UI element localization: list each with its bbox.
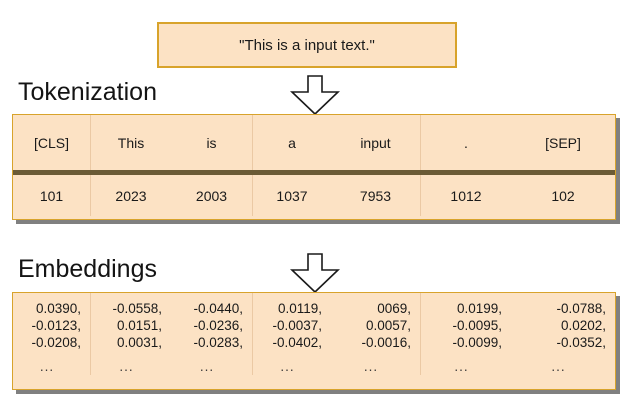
- token-cell: [CLS]: [13, 115, 91, 170]
- embedding-value: 0.0390,: [13, 300, 81, 317]
- embedding-column: 0069, 0.0057, -0.0016, ...: [331, 293, 421, 375]
- embedding-value: -0.0099,: [421, 334, 502, 351]
- embedding-column: 0.0390, -0.0123, -0.0208, ...: [13, 293, 91, 375]
- embedding-ellipsis: ...: [331, 351, 411, 375]
- embedding-value: -0.0402,: [253, 334, 322, 351]
- embedding-value: 0069,: [331, 300, 411, 317]
- embeddings-row: 0.0390, -0.0123, -0.0208, ... -0.0558, 0…: [13, 293, 615, 375]
- embedding-value: 0.0031,: [91, 334, 162, 351]
- embedding-column: -0.0558, 0.0151, 0.0031, ...: [91, 293, 171, 375]
- tokenization-table: [CLS] This is a input . [SEP] 101 2023 2…: [12, 114, 616, 220]
- token-cell: is: [171, 115, 253, 170]
- embeddings-table: 0.0390, -0.0123, -0.0208, ... -0.0558, 0…: [12, 292, 616, 390]
- embedding-value: 0.0202,: [511, 317, 606, 334]
- embedding-value: 0.0151,: [91, 317, 162, 334]
- embedding-value: -0.0788,: [511, 300, 606, 317]
- embedding-ellipsis: ...: [253, 351, 322, 375]
- token-cell: input: [331, 115, 421, 170]
- embedding-value: 0.0119,: [253, 300, 322, 317]
- input-text-box: "This is a input text.": [157, 22, 457, 68]
- embedding-column: 0.0199, -0.0095, -0.0099, ...: [421, 293, 511, 375]
- embedding-value: -0.0095,: [421, 317, 502, 334]
- embedding-column: 0.0119, -0.0037, -0.0402, ...: [253, 293, 331, 375]
- embedding-value: 0.0199,: [421, 300, 502, 317]
- embedding-value: -0.0283,: [171, 334, 243, 351]
- token-id-row: 101 2023 2003 1037 7953 1012 102: [13, 175, 615, 216]
- token-id-cell: 102: [511, 175, 615, 216]
- token-id-cell: 101: [13, 175, 91, 216]
- embedding-value: 0.0057,: [331, 317, 411, 334]
- embedding-value: -0.0352,: [511, 334, 606, 351]
- down-arrow-to-embeddings: [288, 252, 342, 294]
- token-id-cell: 7953: [331, 175, 421, 216]
- embedding-value: -0.0236,: [171, 317, 243, 334]
- token-id-cell: 1037: [253, 175, 331, 216]
- token-cell: a: [253, 115, 331, 170]
- token-id-cell: 2003: [171, 175, 253, 216]
- embedding-column: -0.0788, 0.0202, -0.0352, ...: [511, 293, 615, 375]
- down-arrow-to-tokenization: [288, 74, 342, 116]
- embedding-ellipsis: ...: [511, 351, 606, 375]
- embedding-value: -0.0208,: [13, 334, 81, 351]
- input-text-label: "This is a input text.": [239, 38, 375, 53]
- embedding-ellipsis: ...: [421, 351, 502, 375]
- section-heading-embeddings: Embeddings: [18, 257, 157, 282]
- embedding-value: -0.0558,: [91, 300, 162, 317]
- token-row: [CLS] This is a input . [SEP]: [13, 115, 615, 175]
- embedding-ellipsis: ...: [171, 351, 243, 375]
- token-cell: .: [421, 115, 511, 170]
- embedding-value: -0.0016,: [331, 334, 411, 351]
- embedding-value: -0.0440,: [171, 300, 243, 317]
- token-cell: [SEP]: [511, 115, 615, 170]
- embedding-value: -0.0123,: [13, 317, 81, 334]
- section-heading-tokenization: Tokenization: [18, 80, 157, 105]
- embedding-ellipsis: ...: [13, 351, 81, 375]
- token-cell: This: [91, 115, 171, 170]
- embedding-column: -0.0440, -0.0236, -0.0283, ...: [171, 293, 253, 375]
- embedding-ellipsis: ...: [91, 351, 162, 375]
- embedding-value: -0.0037,: [253, 317, 322, 334]
- token-id-cell: 2023: [91, 175, 171, 216]
- token-id-cell: 1012: [421, 175, 511, 216]
